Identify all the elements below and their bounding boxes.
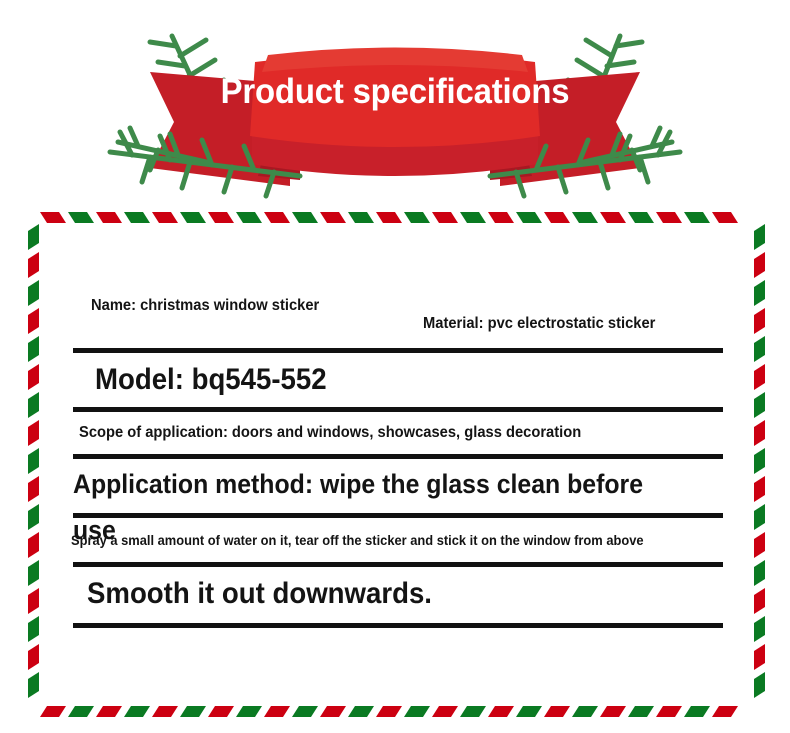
border-dash-bottom bbox=[712, 706, 738, 717]
border-dash-left bbox=[28, 280, 39, 306]
border-dash-bottom bbox=[320, 706, 346, 717]
border-dash-top bbox=[404, 212, 430, 223]
table-row-model: Model: bq545-552 bbox=[73, 353, 723, 407]
table-row-spray-step: Spray a small amount of water on it, tea… bbox=[73, 518, 723, 562]
border-dash-top bbox=[292, 212, 318, 223]
border-dash-bottom bbox=[124, 706, 150, 717]
border-dash-top bbox=[320, 212, 346, 223]
table-row-name-material: Name: christmas window sticker Material:… bbox=[73, 292, 723, 348]
border-dash-right bbox=[754, 392, 765, 418]
border-dash-top bbox=[656, 212, 682, 223]
border-dash-top bbox=[628, 212, 654, 223]
spec-spray-step-value: Spray a small amount of water on it, tea… bbox=[71, 524, 644, 556]
border-dash-right bbox=[754, 560, 765, 586]
border-dash-bottom bbox=[684, 706, 710, 717]
border-dash-right bbox=[754, 308, 765, 334]
border-dash-bottom bbox=[348, 706, 374, 717]
border-dash-bottom bbox=[628, 706, 654, 717]
border-dash-right bbox=[754, 336, 765, 362]
border-dash-left bbox=[28, 476, 39, 502]
border-dash-left bbox=[28, 420, 39, 446]
spec-scope-value: Scope of application: doors and windows,… bbox=[79, 416, 581, 450]
border-dash-bottom bbox=[264, 706, 290, 717]
border-dash-right bbox=[754, 672, 765, 698]
spec-smooth-step-value: Smooth it out downwards. bbox=[87, 569, 432, 619]
border-dash-bottom bbox=[376, 706, 402, 717]
border-dash-bottom bbox=[572, 706, 598, 717]
border-dash-bottom bbox=[96, 706, 122, 717]
border-dash-right bbox=[754, 616, 765, 642]
spec-material-value: Material: pvc electrostatic sticker bbox=[423, 314, 727, 333]
border-dash-right bbox=[754, 588, 765, 614]
border-dash-top bbox=[180, 212, 206, 223]
border-dash-top bbox=[348, 212, 374, 223]
border-dash-left bbox=[28, 364, 39, 390]
border-dash-bottom bbox=[656, 706, 682, 717]
border-dash-right bbox=[754, 364, 765, 390]
border-dash-top bbox=[488, 212, 514, 223]
border-dash-right bbox=[754, 644, 765, 670]
border-dash-bottom bbox=[68, 706, 94, 717]
table-row-scope: Scope of application: doors and windows,… bbox=[73, 412, 723, 454]
border-dash-left bbox=[28, 588, 39, 614]
border-dash-bottom bbox=[236, 706, 262, 717]
border-dash-top bbox=[712, 212, 738, 223]
border-dash-top bbox=[432, 212, 458, 223]
spec-name-value: Name: christmas window sticker bbox=[91, 296, 330, 315]
table-row-application-method: Application method: wipe the glass clean… bbox=[73, 459, 723, 513]
border-dash-top bbox=[516, 212, 542, 223]
product-specifications-card: Product specifications Name: christmas w… bbox=[0, 0, 790, 733]
border-dash-bottom bbox=[516, 706, 542, 717]
border-dash-right bbox=[754, 420, 765, 446]
border-dash-top bbox=[40, 212, 66, 223]
border-dash-top bbox=[376, 212, 402, 223]
border-dash-right bbox=[754, 280, 765, 306]
border-dash-left bbox=[28, 616, 39, 642]
border-dash-right bbox=[754, 532, 765, 558]
border-dash-top bbox=[684, 212, 710, 223]
spec-model-value: Model: bq545-552 bbox=[95, 357, 327, 403]
border-dash-left bbox=[28, 504, 39, 530]
border-dash-bottom bbox=[152, 706, 178, 717]
border-dash-bottom bbox=[432, 706, 458, 717]
border-dash-left bbox=[28, 224, 39, 250]
border-dash-right bbox=[754, 476, 765, 502]
border-dash-bottom bbox=[404, 706, 430, 717]
border-dash-bottom bbox=[488, 706, 514, 717]
border-dash-bottom bbox=[292, 706, 318, 717]
specification-table: Name: christmas window sticker Material:… bbox=[73, 292, 723, 628]
border-dash-top bbox=[460, 212, 486, 223]
ribbon-banner: Product specifications bbox=[0, 0, 790, 205]
border-dash-right bbox=[754, 504, 765, 530]
table-row-smooth-step: Smooth it out downwards. bbox=[73, 567, 723, 623]
border-dash-top bbox=[152, 212, 178, 223]
border-dash-top bbox=[68, 212, 94, 223]
banner-title: Product specifications bbox=[24, 72, 767, 112]
border-dash-right bbox=[754, 224, 765, 250]
border-dash-right bbox=[754, 252, 765, 278]
border-dash-left bbox=[28, 336, 39, 362]
border-dash-left bbox=[28, 560, 39, 586]
border-dash-bottom bbox=[600, 706, 626, 717]
border-dash-left bbox=[28, 644, 39, 670]
border-dash-top bbox=[236, 212, 262, 223]
border-dash-top bbox=[264, 212, 290, 223]
border-dash-top bbox=[96, 212, 122, 223]
border-dash-top bbox=[544, 212, 570, 223]
border-dash-left bbox=[28, 532, 39, 558]
border-dash-bottom bbox=[544, 706, 570, 717]
border-dash-left bbox=[28, 448, 39, 474]
border-dash-top bbox=[572, 212, 598, 223]
border-dash-bottom bbox=[180, 706, 206, 717]
border-dash-top bbox=[208, 212, 234, 223]
border-dash-left bbox=[28, 252, 39, 278]
border-dash-bottom bbox=[460, 706, 486, 717]
border-dash-left bbox=[28, 672, 39, 698]
row-divider bbox=[73, 623, 723, 628]
border-dash-top bbox=[124, 212, 150, 223]
border-dash-bottom bbox=[208, 706, 234, 717]
border-dash-left bbox=[28, 392, 39, 418]
border-dash-left bbox=[28, 308, 39, 334]
border-dash-top bbox=[600, 212, 626, 223]
border-dash-right bbox=[754, 448, 765, 474]
border-dash-bottom bbox=[40, 706, 66, 717]
